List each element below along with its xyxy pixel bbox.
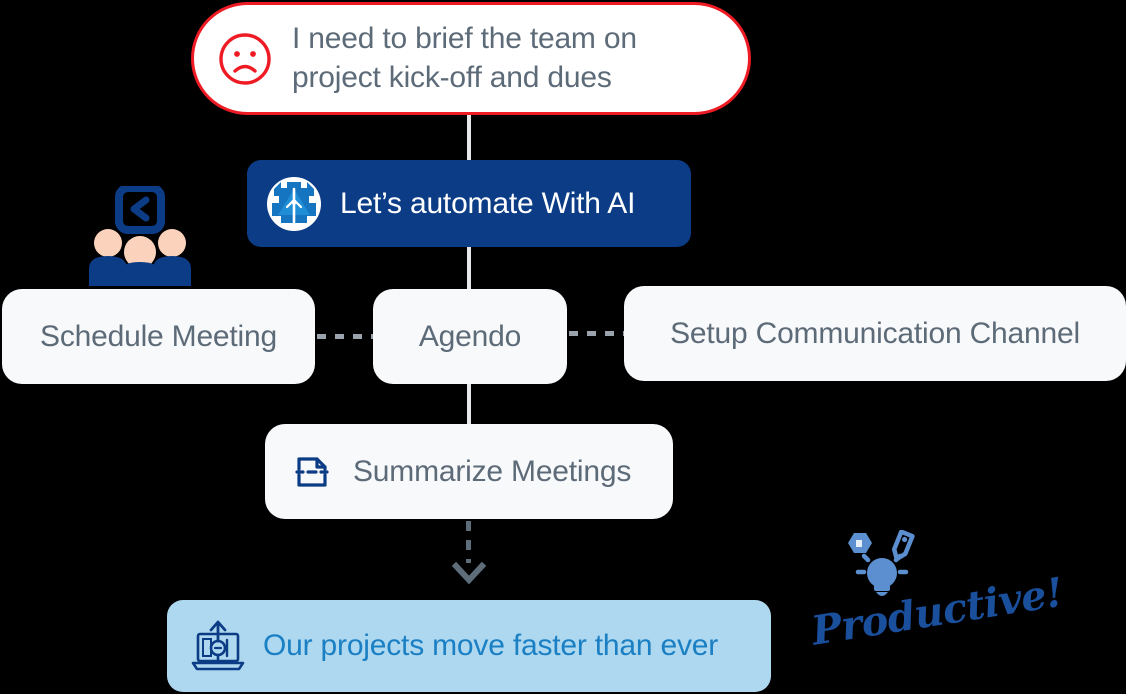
automate-with-ai-card[interactable]: Let’s automate With AI	[247, 160, 691, 247]
task-card-setup-communication-channel[interactable]: Setup Communication Channel	[624, 286, 1126, 381]
ai-gear-icon	[265, 175, 323, 233]
flow-canvas: I need to brief the team on project kick…	[0, 0, 1126, 694]
connector-problem-to-ai	[467, 113, 471, 163]
team-puzzle-icon	[84, 186, 196, 286]
task-card-schedule-meeting[interactable]: Schedule Meeting	[2, 289, 315, 384]
connector-ai-to-agenda	[467, 245, 471, 291]
arrow-down-icon	[452, 556, 486, 590]
connector-agenda-to-summarize	[467, 382, 471, 426]
task-label-summarize-meetings: Summarize Meetings	[353, 455, 631, 489]
connector-agenda-to-channel	[569, 331, 625, 336]
document-scan-icon	[289, 449, 335, 495]
outcome-card[interactable]: Our projects move faster than ever	[167, 600, 771, 692]
task-card-summarize-meetings[interactable]: Summarize Meetings	[265, 424, 673, 519]
sad-face-icon	[216, 30, 274, 88]
task-label-agenda: Agendo	[419, 320, 521, 354]
problem-statement-card[interactable]: I need to brief the team on project kick…	[191, 2, 751, 115]
automate-with-ai-text: Let’s automate With AI	[340, 187, 635, 221]
connector-schedule-to-agenda	[317, 334, 373, 339]
task-label-schedule-meeting: Schedule Meeting	[40, 320, 277, 354]
task-label-setup-communication-channel: Setup Communication Channel	[670, 317, 1080, 351]
problem-statement-text: I need to brief the team on project kick…	[292, 20, 722, 96]
laptop-growth-icon	[189, 617, 247, 675]
outcome-text: Our projects move faster than ever	[263, 629, 718, 663]
task-card-agenda[interactable]: Agendo	[373, 289, 567, 384]
